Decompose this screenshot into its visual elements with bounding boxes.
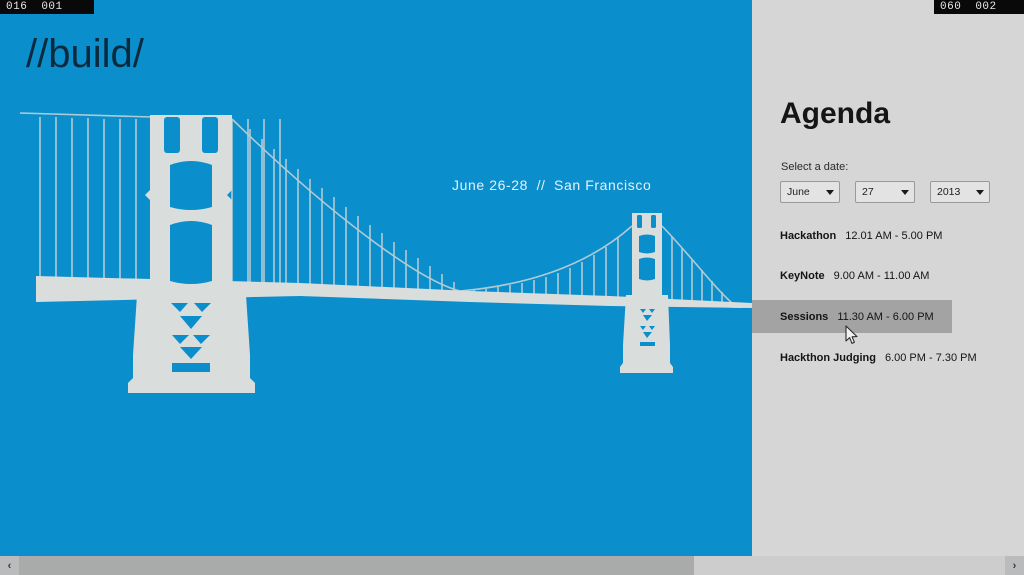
hero-panel: //build/ June 26-28 // San Francisco [0,0,752,556]
status-right-value-2: 002 [975,0,996,14]
agenda-item-name: KeyNote [780,270,825,282]
agenda-item-name: Hackathon [780,230,836,242]
row-spacer [752,333,1024,342]
agenda-item-name: Hackthon Judging [780,352,876,364]
golden-gate-bridge-icon [0,95,752,435]
agenda-panel: Agenda Select a date: June 27 2013 Hacka… [752,0,1024,556]
horizontal-scrollbar[interactable]: ‹ › [0,556,1024,575]
chevron-down-icon [901,190,909,195]
scrollbar-thumb[interactable] [19,556,694,575]
agenda-item-time: 12.01 AM - 5.00 PM [845,230,942,242]
scroll-left-arrow-icon[interactable]: ‹ [0,556,19,575]
scroll-right-arrow-icon[interactable]: › [1005,556,1024,575]
agenda-item-name: Sessions [780,311,828,323]
page-title: Agenda [780,97,890,131]
agenda-item-keynote[interactable]: KeyNote 9.00 AM - 11.00 AM [752,260,1024,291]
scrollbar-track[interactable] [19,556,1005,575]
app-screen: 016 001 060 002 //build/ June 26-28 // S… [0,0,1024,575]
agenda-item-hackthon-judging[interactable]: Hackthon Judging 6.00 PM - 7.30 PM [752,342,1024,373]
agenda-item-time: 9.00 AM - 11.00 AM [834,270,930,282]
month-select-value: June [787,186,810,198]
status-right-value-1: 060 [940,0,961,14]
agenda-item-sessions[interactable]: Sessions 11.30 AM - 6.00 PM [752,300,952,333]
agenda-item-time: 11.30 AM - 6.00 PM [837,311,933,323]
day-select-value: 27 [862,186,874,198]
year-select[interactable]: 2013 [930,181,990,203]
status-left-value-2: 001 [41,0,62,14]
chevron-down-icon [976,190,984,195]
year-select-value: 2013 [937,186,960,198]
date-picker-label: Select a date: [781,161,848,173]
status-bar-left: 016 001 [0,0,94,14]
agenda-list: Hackathon 12.01 AM - 5.00 PM KeyNote 9.0… [752,220,1024,373]
status-left-value-1: 016 [6,0,27,14]
day-select[interactable]: 27 [855,181,915,203]
date-picker-group: June 27 2013 [780,181,990,203]
row-spacer [752,291,1024,300]
agenda-item-time: 6.00 PM - 7.30 PM [885,352,977,364]
agenda-item-hackathon[interactable]: Hackathon 12.01 AM - 5.00 PM [752,220,1024,251]
build-logo: //build/ [26,32,144,77]
month-select[interactable]: June [780,181,840,203]
chevron-down-icon [826,190,834,195]
row-spacer [752,251,1024,260]
status-bar-right: 060 002 [934,0,1024,14]
